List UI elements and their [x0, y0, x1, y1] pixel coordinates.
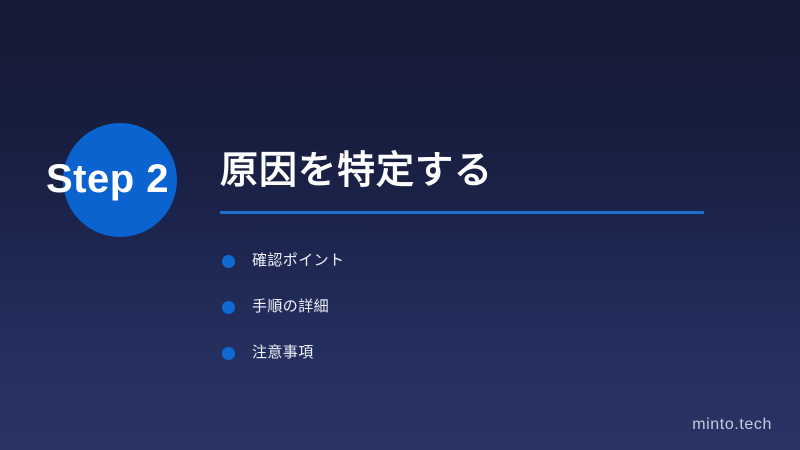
slide-canvas: Step 2 原因を特定する 確認ポイント 手順の詳細 注意事項 minto.t… — [0, 0, 800, 450]
list-item: 手順の詳細 — [220, 284, 690, 330]
footer-brand: minto.tech — [692, 416, 772, 434]
bullet-dot-icon — [222, 255, 235, 268]
list-item: 確認ポイント — [220, 238, 690, 284]
title-divider — [220, 211, 704, 214]
list-item-label: 確認ポイント — [252, 251, 344, 271]
bullet-list: 確認ポイント 手順の詳細 注意事項 — [220, 238, 690, 376]
bullet-dot-icon — [222, 347, 235, 360]
page-title: 原因を特定する — [220, 147, 493, 195]
bullet-dot-icon — [222, 301, 235, 314]
list-item-label: 注意事項 — [252, 343, 314, 363]
list-item-label: 手順の詳細 — [252, 297, 329, 317]
step-label: Step 2 — [46, 154, 206, 204]
list-item: 注意事項 — [220, 330, 690, 376]
